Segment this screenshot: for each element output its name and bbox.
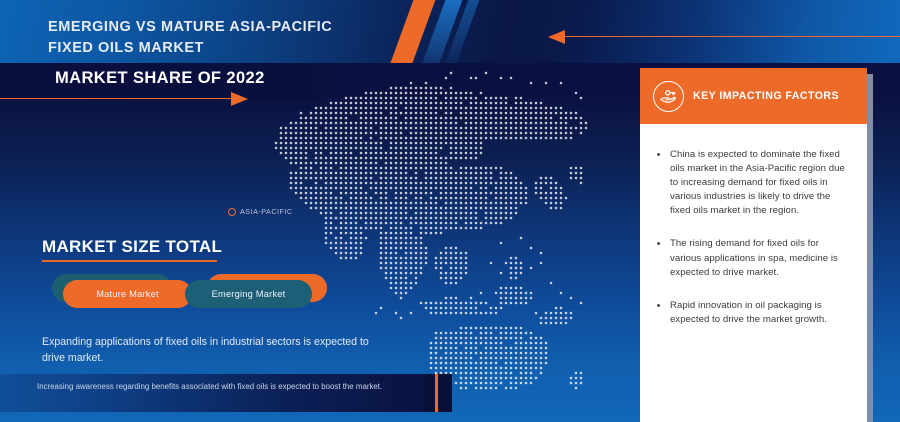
key-factor-text: Rapid innovation in oil packaging is exp… [670, 299, 849, 327]
legend-mature-label[interactable]: Mature Market [63, 280, 192, 308]
key-factors-header: KEY IMPACTING FACTORS [640, 68, 867, 124]
arrow-right-icon [0, 92, 248, 106]
footer-note: Increasing awareness regarding benefits … [37, 381, 429, 393]
bullet-dot-icon: • [654, 237, 663, 279]
map-region-label: ASIA-PACIFIC [228, 207, 293, 216]
market-size-underline [42, 260, 217, 262]
market-size-title: MARKET SIZE TOTAL [42, 237, 222, 257]
map-marker-ring-icon [228, 208, 236, 216]
bullet-dot-icon: • [654, 148, 663, 218]
arrow-right-line [0, 98, 234, 99]
market-size-description: Expanding applications of fixed oils in … [42, 334, 382, 367]
bullet-dot-icon: • [654, 299, 663, 327]
key-factor-text: The rising demand for fixed oils for var… [670, 237, 849, 279]
legend-emerging-label[interactable]: Emerging Market [185, 280, 312, 308]
legend-item-emerging-market[interactable]: Emerging Market [185, 274, 327, 308]
map-region-label-text: ASIA-PACIFIC [240, 207, 293, 216]
key-factor-text: China is expected to dominate the fixed … [670, 148, 849, 218]
legend-item-mature-market[interactable]: Mature Market [52, 274, 192, 308]
hand-holding-key-icon [653, 81, 684, 112]
arrow-left-icon [548, 30, 900, 44]
key-factors-list: •China is expected to dominate the fixed… [640, 124, 867, 422]
arrow-left-line [562, 36, 900, 37]
footer-divider [424, 374, 452, 412]
key-factor-item: •Rapid innovation in oil packaging is ex… [654, 299, 849, 327]
key-factor-item: •The rising demand for fixed oils for va… [654, 237, 849, 279]
infographic-canvas: EMERGING VS MATURE ASIA-PACIFIC FIXED OI… [0, 0, 900, 422]
page-title: EMERGING VS MATURE ASIA-PACIFIC FIXED OI… [48, 17, 378, 58]
key-factor-item: •China is expected to dominate the fixed… [654, 148, 849, 218]
footer-divider-accent-bar [435, 374, 438, 412]
key-factors-heading: KEY IMPACTING FACTORS [693, 90, 839, 102]
